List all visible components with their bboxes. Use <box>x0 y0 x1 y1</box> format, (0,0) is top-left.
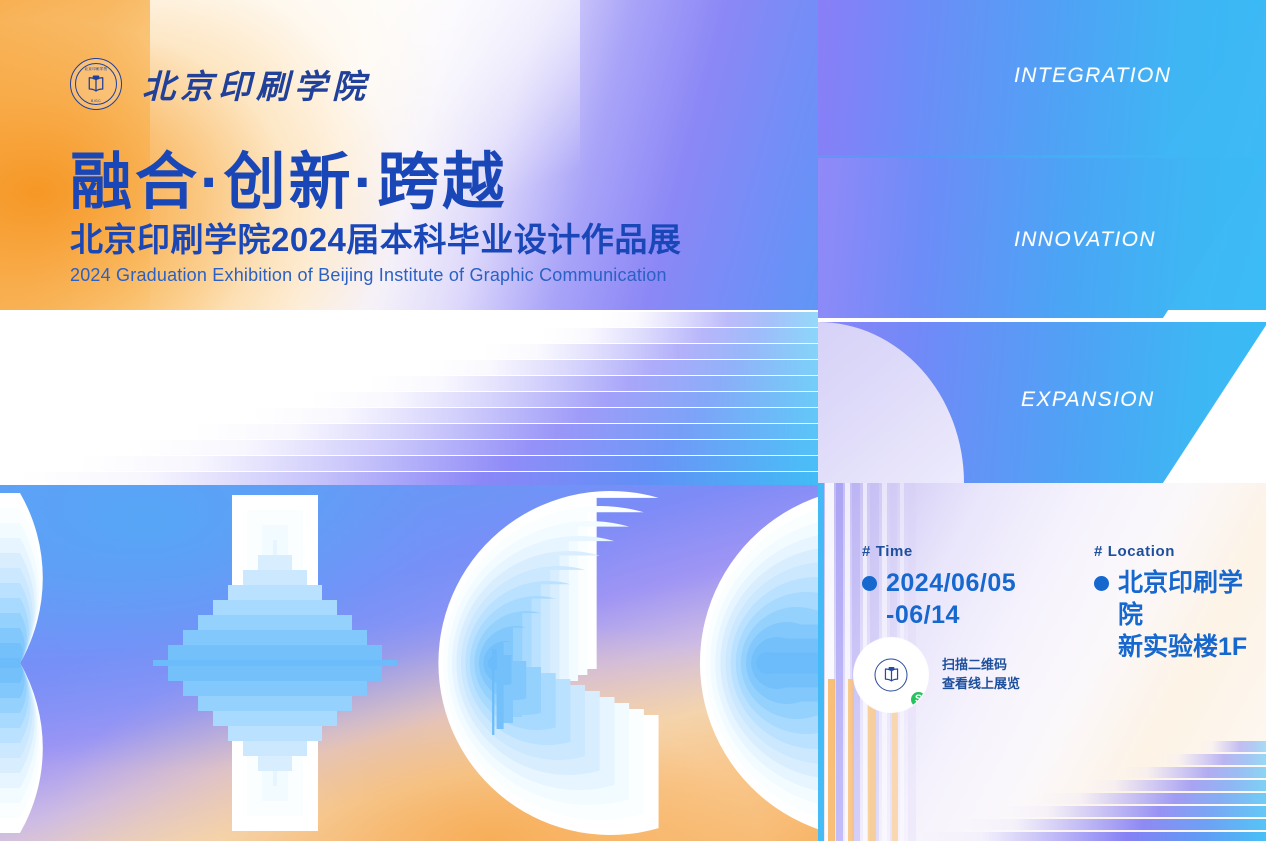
seal-arc-top: 北京印刷学院 <box>71 66 121 71</box>
keyword-bands-group: INTEGRATION INNOVATION EXPANSION <box>818 0 1266 483</box>
university-name-cn: 北京印刷学院 <box>142 60 370 108</box>
speed-stripe <box>542 328 818 343</box>
speed-stripe <box>1000 806 1266 817</box>
location-label: # Location <box>1094 543 1266 560</box>
poster-title-en: 2024 Graduation Exhibition of Beijing In… <box>70 265 681 286</box>
qr-center-logo-icon <box>875 659 908 692</box>
time-value: 2024/06/05 -06/14 <box>886 567 1016 631</box>
speed-stripe <box>920 832 1266 841</box>
letter-i <box>153 495 397 831</box>
location-value: 北京印刷学院 新实验楼1F <box>1118 567 1266 663</box>
quarter-circle-decoration <box>818 322 964 483</box>
speed-stripe <box>78 456 818 471</box>
speed-stripe <box>1200 741 1266 752</box>
band-label-expansion: EXPANSION <box>1021 388 1155 412</box>
speed-stripe <box>600 312 818 327</box>
speed-stripes-bottom-right <box>900 735 1266 841</box>
band-label-innovation: INNOVATION <box>1014 228 1156 252</box>
bigc-letters-svg <box>0 485 818 841</box>
speed-stripe <box>1120 767 1266 778</box>
info-column-time: # Time 2024/06/05 -06/14 <box>862 543 1016 631</box>
seal-arc-bottom: BIGC <box>71 99 121 103</box>
poster-title-sub: 北京印刷学院2024届本科毕业设计作品展 <box>70 221 681 260</box>
speed-stripe <box>484 344 818 359</box>
speed-stripe <box>1160 754 1266 765</box>
wechat-miniprogram-icon: S <box>910 691 927 708</box>
letter-b <box>0 493 43 833</box>
speed-stripe <box>960 819 1266 830</box>
speed-stripe <box>1040 793 1266 804</box>
speed-stripe <box>252 408 818 423</box>
speed-stripe <box>194 424 818 439</box>
letter-g <box>438 491 658 835</box>
speed-stripe <box>368 376 818 391</box>
time-label: # Time <box>862 543 1016 560</box>
university-logo: 北京印刷学院 BIGC 北京印刷学院 <box>70 58 370 110</box>
time-bullet-icon <box>862 576 877 591</box>
bigc-wordmark <box>0 485 818 841</box>
letter-c <box>700 487 818 839</box>
seal-book-icon <box>84 75 108 95</box>
qr-caption: 扫描二维码 查看线上展览 <box>942 656 1020 694</box>
qr-block[interactable]: S 扫描二维码 查看线上展览 <box>854 638 1020 712</box>
poster-canvas: INTEGRATION INNOVATION EXPANSION # Time … <box>0 0 1266 841</box>
info-column-location: # Location 北京印刷学院 新实验楼1F <box>1094 543 1266 663</box>
bigc-wordmark-panel <box>0 485 818 841</box>
band-label-integration: INTEGRATION <box>1014 64 1171 88</box>
title-block: 融合·创新·跨越 北京印刷学院2024届本科毕业设计作品展 2024 Gradu… <box>70 150 681 286</box>
location-bullet-icon <box>1094 576 1109 591</box>
speed-stripe <box>20 472 818 485</box>
speed-stripe <box>426 360 818 375</box>
speed-stripe <box>310 392 818 407</box>
speed-stripe <box>1080 780 1266 791</box>
qr-code-icon[interactable]: S <box>854 638 928 712</box>
speed-stripes-left <box>0 310 818 485</box>
poster-title-main: 融合·创新·跨越 <box>70 150 681 215</box>
speed-stripe <box>136 440 818 455</box>
bigc-seal-icon: 北京印刷学院 BIGC <box>70 58 122 110</box>
